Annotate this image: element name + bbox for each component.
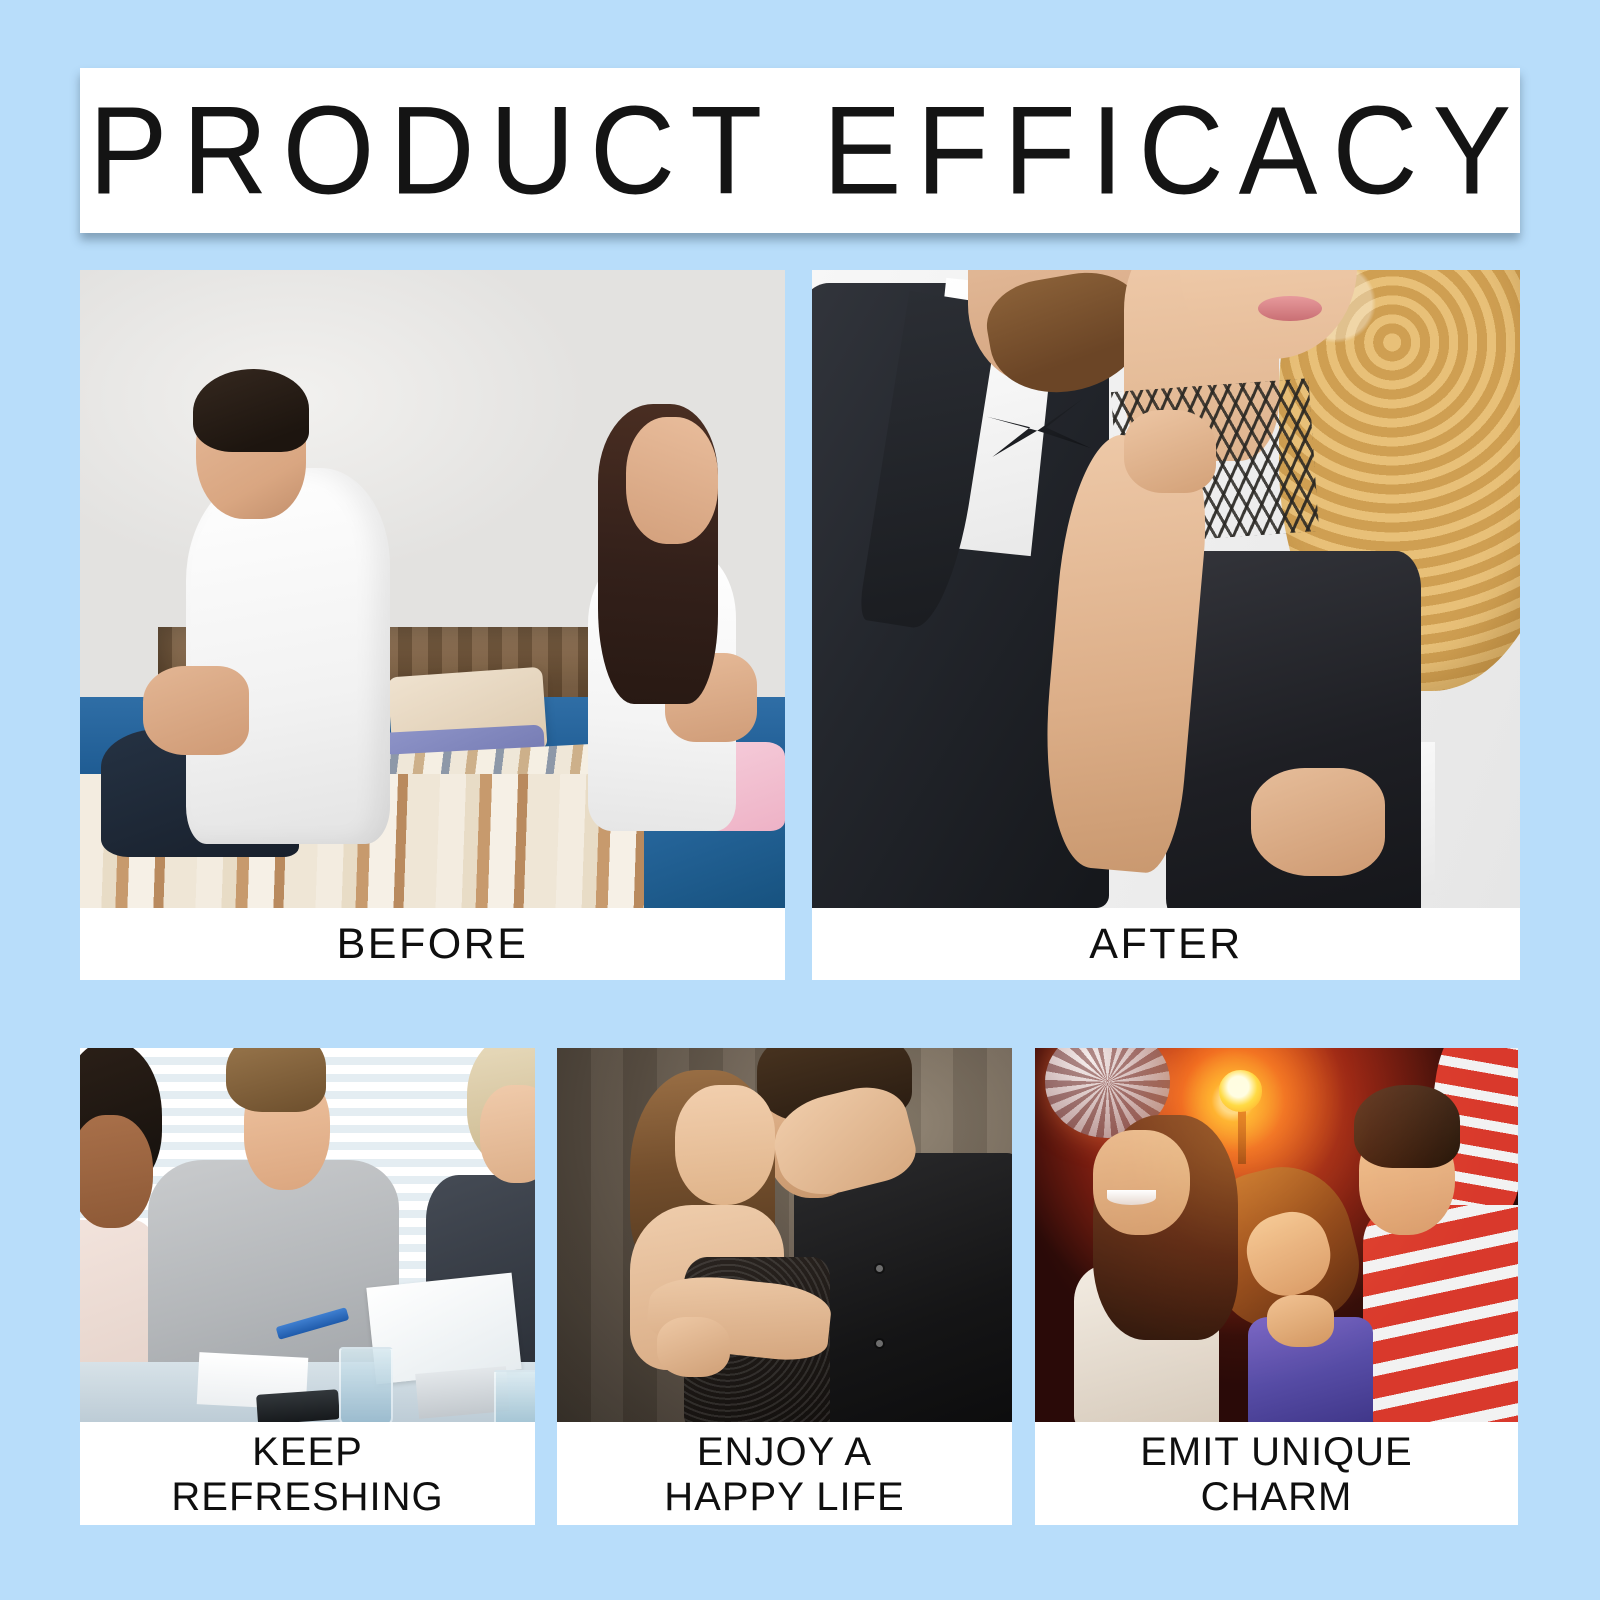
after-caption: AFTER [812,908,1520,980]
benefit-caption-unique-charm: EMIT UNIQUE CHARM [1035,1422,1518,1525]
caption-line-1: ENJOY A [664,1430,904,1475]
before-card: BEFORE [80,270,785,980]
colleague-left-face [80,1115,153,1227]
shirt-button-upper [876,1265,883,1272]
after-card: AFTER [812,270,1520,980]
caption-line-2: CHARM [1140,1475,1413,1520]
product-efficacy-poster: PRODUCT EFFICACY BEFORE [0,0,1600,1600]
after-photo [812,270,1520,908]
stage-light-glow [1035,1048,1518,1422]
water-glass-second [494,1370,535,1422]
woman-head [626,417,718,545]
man-hair [226,1048,326,1112]
water-glass [339,1347,393,1422]
before-photo [80,270,785,908]
romantic-couple-photo [557,1048,1012,1422]
benefit-caption-happy-life: ENJOY A HAPPY LIFE [557,1422,1012,1525]
man-hair [193,369,309,452]
smartphone [256,1389,340,1422]
colleague-right-face [480,1085,535,1182]
page-title: PRODUCT EFFICACY [74,88,1527,213]
caption-line-2: REFRESHING [171,1475,443,1520]
woman-hand [1124,410,1216,493]
benefit-card-keep-refreshing: KEEP REFRESHING [80,1048,535,1525]
man-arm [143,666,249,755]
shirt-button-lower [876,1340,883,1347]
hand [657,1317,730,1377]
nightclub-party-photo [1035,1048,1518,1422]
title-card: PRODUCT EFFICACY [80,68,1520,233]
before-caption: BEFORE [80,908,785,980]
office-meeting-photo [80,1048,535,1422]
caption-line-2: HAPPY LIFE [664,1475,904,1520]
benefit-card-unique-charm: EMIT UNIQUE CHARM [1035,1048,1518,1525]
man-hand-on-waist [1251,768,1386,876]
man-white-tshirt [186,468,390,844]
benefit-card-happy-life: ENJOY A HAPPY LIFE [557,1048,1012,1525]
woman-face [675,1085,775,1205]
caption-line-1: KEEP [171,1430,443,1475]
caption-line-1: EMIT UNIQUE [1140,1430,1413,1475]
woman-lips [1258,296,1322,322]
benefit-caption-keep-refreshing: KEEP REFRESHING [80,1422,535,1525]
